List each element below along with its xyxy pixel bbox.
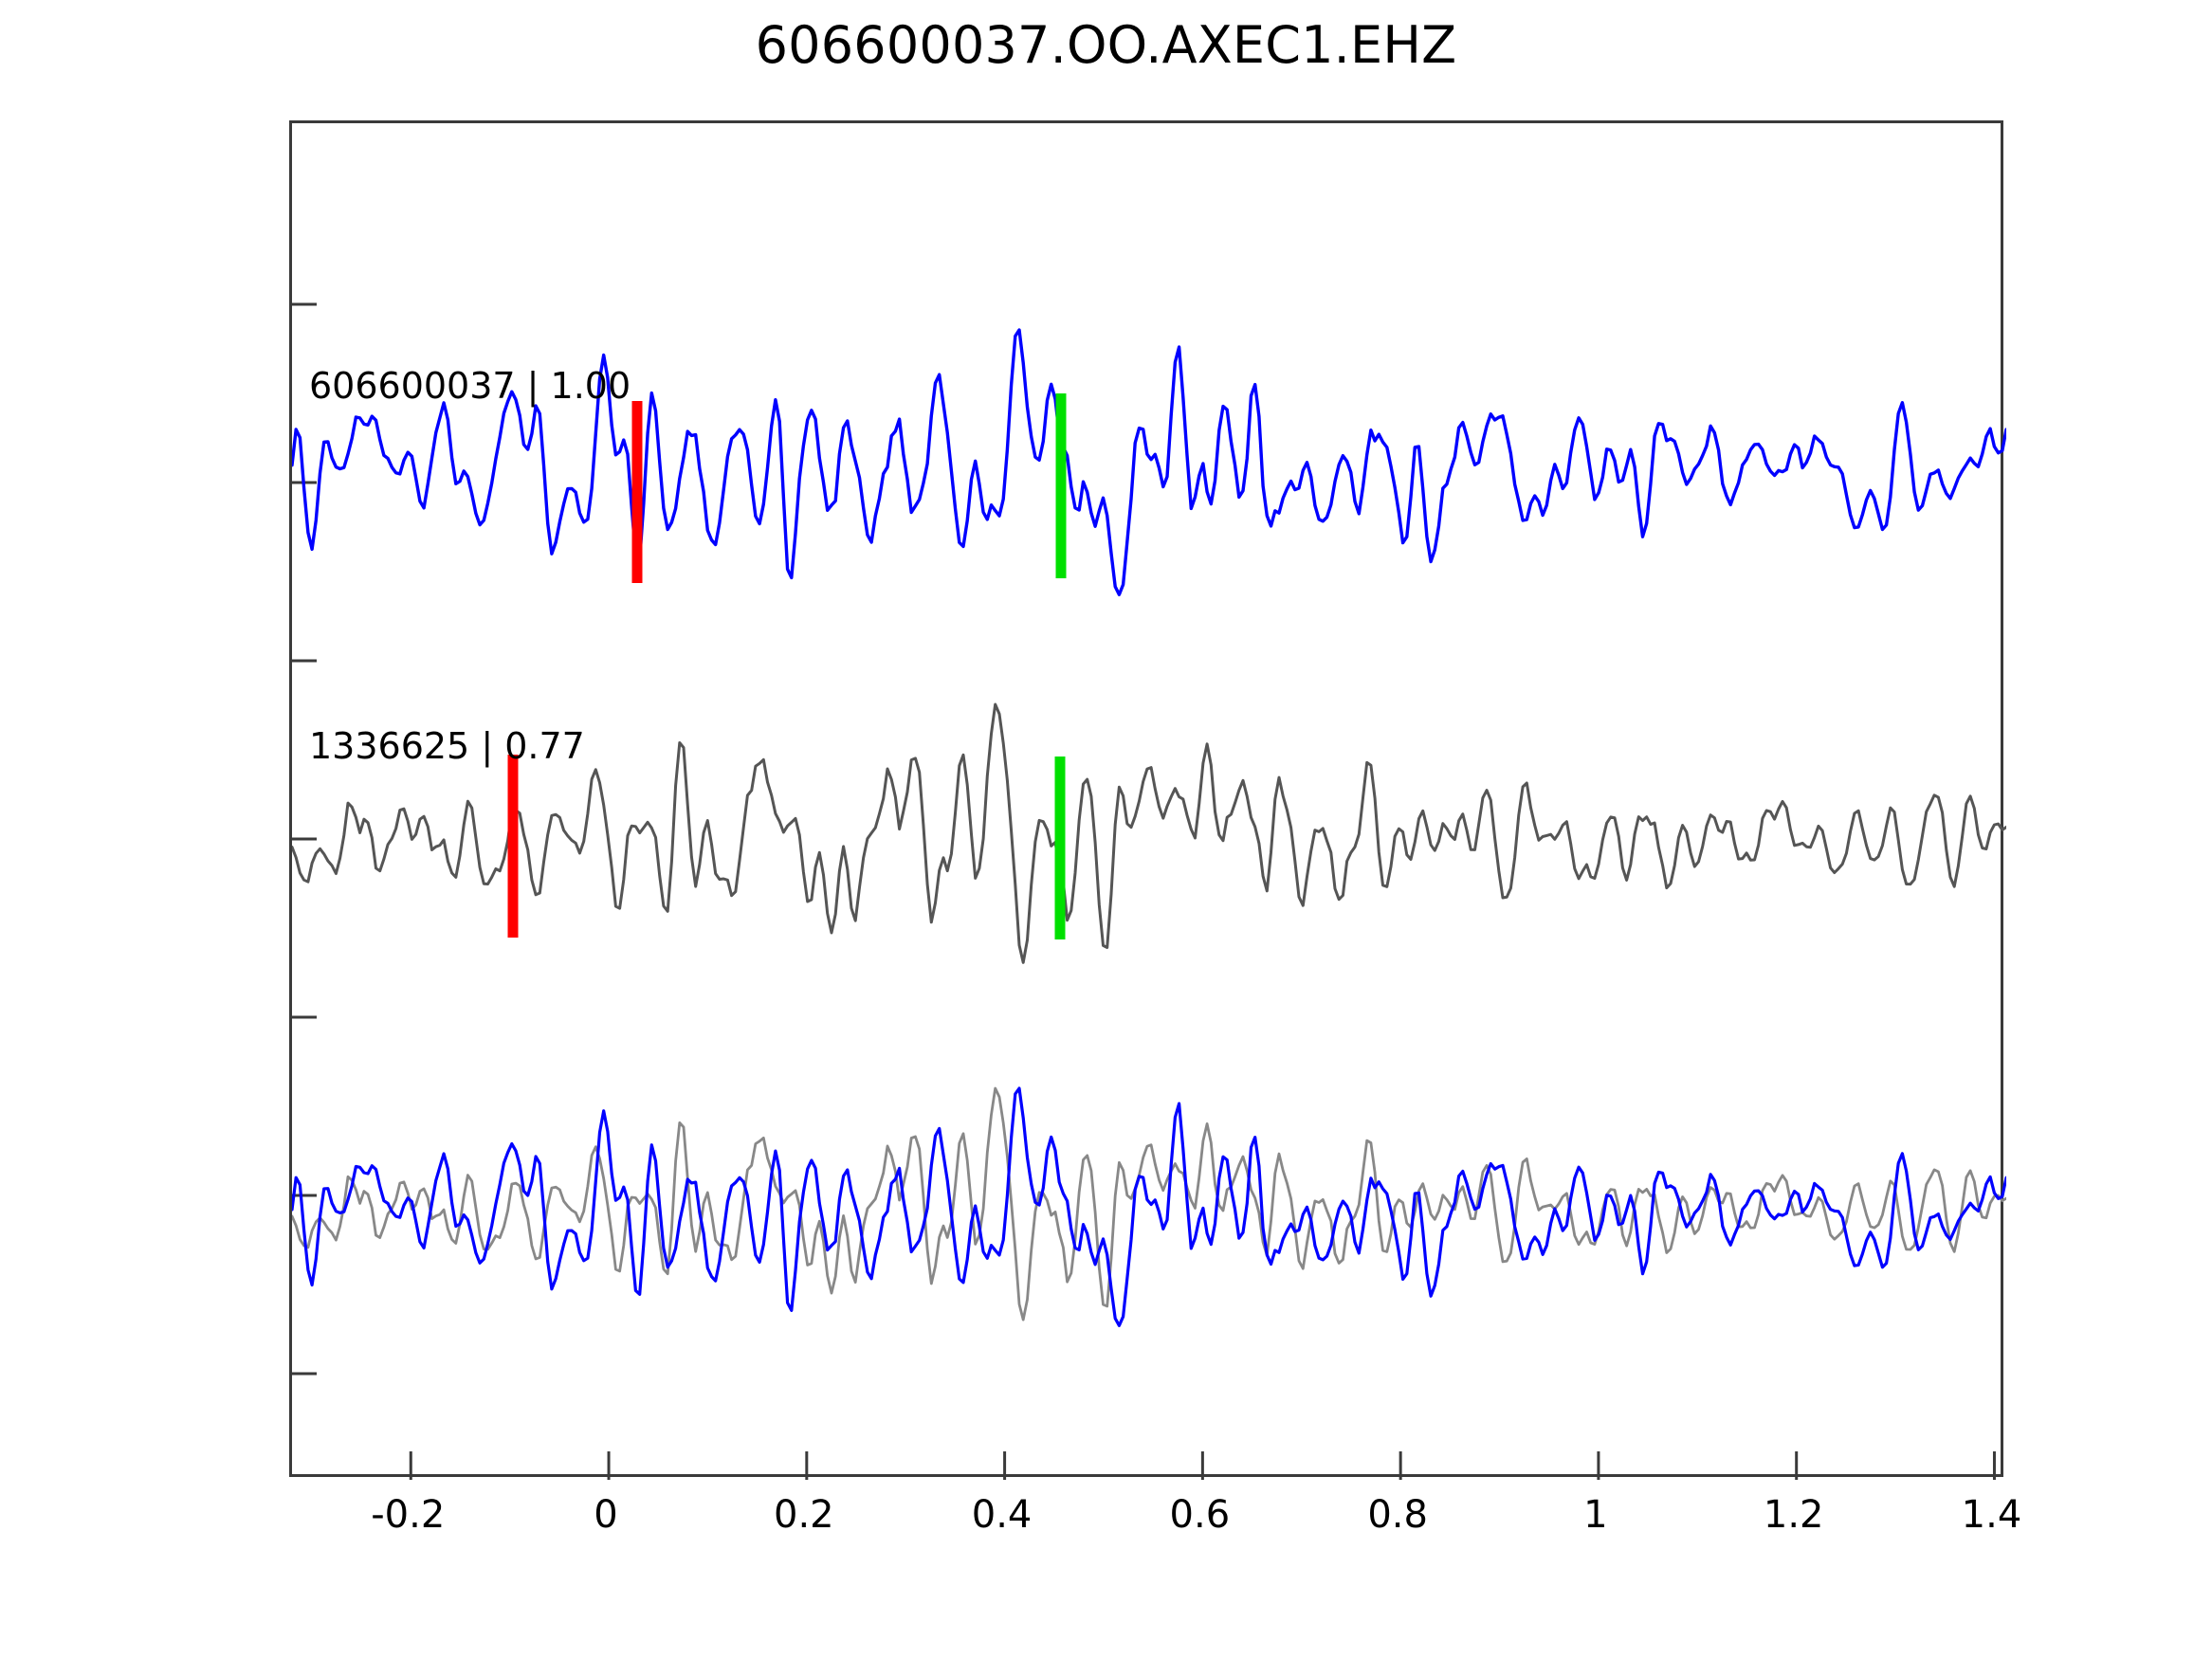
- x-tick-label-0: -0.2: [371, 1493, 445, 1537]
- x-tick-label-7: 1.2: [1764, 1493, 1824, 1537]
- plot-axes: [289, 120, 2003, 1477]
- x-tick-label-5: 0.8: [1367, 1493, 1428, 1537]
- x-tick-label-8: 1.4: [1962, 1493, 2022, 1537]
- x-tick-label-2: 0.2: [774, 1493, 834, 1537]
- trace-2-label: 1336625 | 0.77: [309, 725, 585, 767]
- x-tick-label-3: 0.4: [972, 1493, 1033, 1537]
- waveform-overlay-blue: [292, 1088, 2006, 1325]
- waveform-canvas: [292, 123, 2006, 1480]
- x-axis-tick-labels: -0.200.20.40.60.811.21.4: [289, 1493, 2003, 1550]
- x-tick-label-4: 0.6: [1170, 1493, 1231, 1537]
- waveform-figure: 606600037.OO.AXEC1.EHZ 606600037 | 1.00 …: [0, 0, 2212, 1659]
- trace-1-label: 606600037 | 1.00: [309, 365, 631, 407]
- page-title: 606600037.OO.AXEC1.EHZ: [0, 15, 2212, 75]
- x-tick-label-6: 1: [1583, 1493, 1607, 1537]
- x-tick-label-1: 0: [594, 1493, 617, 1537]
